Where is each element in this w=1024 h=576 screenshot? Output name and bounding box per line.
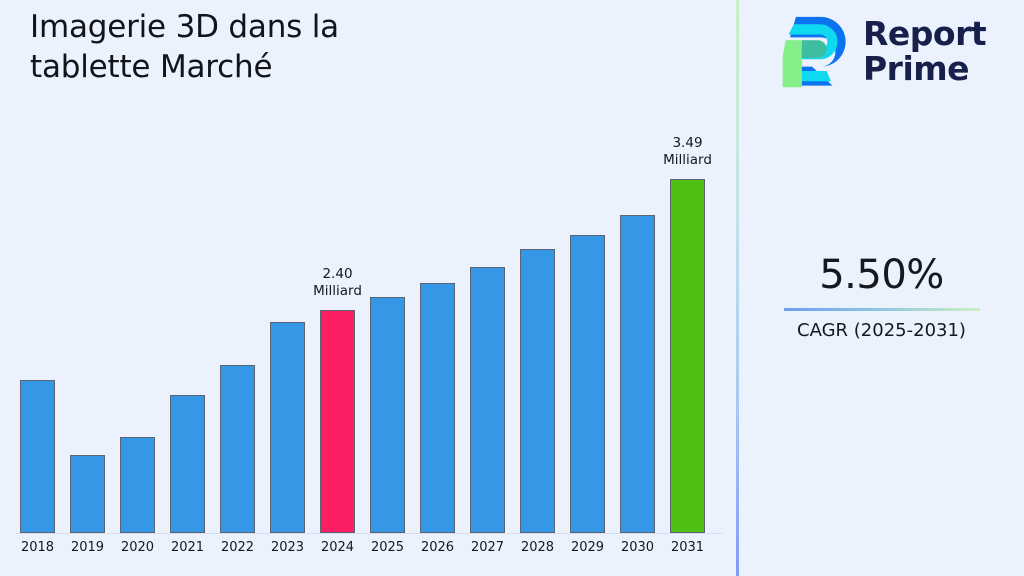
x-axis-baseline [16,533,722,534]
bar-2030 [620,215,655,533]
cagr-block: 5.50% CAGR (2025-2031) [739,255,1024,341]
cagr-value: 5.50% [739,255,1024,295]
chart-panel: Imagerie 3D dans la tablette Marché 2018… [0,0,737,576]
bar-2018 [20,380,55,533]
bar-2025 [370,297,405,533]
bar-2028 [520,249,555,533]
side-panel: Report Prime 5.50% CAGR (2025-2031) [739,0,1024,576]
report-prime-logo-icon [775,14,849,90]
cagr-caption: CAGR (2025-2031) [739,320,1024,341]
bar-2031 [670,179,705,533]
bar-2029 [570,235,605,533]
bar-2022 [220,365,255,533]
bar-chart: 2018201920202021202220232024202520262027… [0,0,737,576]
bar-value-label-2031: 3.49 Milliard [643,135,733,170]
bar-2023 [270,322,305,533]
bar-value-label-2024: 2.40 Milliard [293,266,383,301]
brand-name: Report Prime [863,17,986,86]
cagr-divider-rule [784,308,980,311]
bar-2019 [70,455,105,533]
bar-2020 [120,437,155,533]
brand-lockup: Report Prime [775,14,986,90]
bar-2021 [170,395,205,533]
bar-2026 [420,283,455,533]
x-tick-2031: 2031 [658,540,718,555]
bar-2024 [320,310,355,533]
infographic-root: Imagerie 3D dans la tablette Marché 2018… [0,0,1024,576]
bar-2027 [470,267,505,533]
